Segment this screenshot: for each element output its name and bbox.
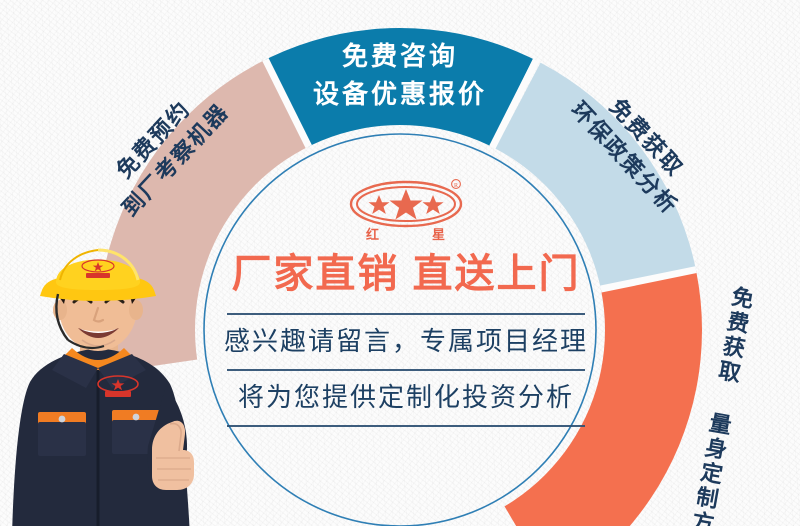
subline-1: 感兴趣请留言，专属项目经理 (196, 315, 616, 369)
divider-top (227, 313, 585, 315)
svg-text:R: R (454, 183, 458, 189)
subline-2: 将为您提供定制化投资分析 (196, 371, 616, 425)
center-content: R 红 星 厂家直销 直送上门 感兴趣请留言，专属项目经理 将为您提供定制化投资… (196, 178, 616, 458)
logo-char-right: 星 (432, 224, 446, 243)
brand-logo-text: 红 星 (344, 224, 468, 243)
banner-root: 免费咨询 设备优惠报价 免费预约 到厂考察机器 免费获取 环保政策分析 免费获取… (0, 0, 800, 526)
logo-char-left: 红 (366, 224, 380, 243)
headline: 厂家直销 直送上门 (196, 252, 616, 297)
brand-logo: R 红 星 (344, 178, 468, 240)
divider-middle (227, 369, 585, 371)
worker-illustration (0, 236, 234, 526)
divider-bottom (227, 425, 585, 427)
